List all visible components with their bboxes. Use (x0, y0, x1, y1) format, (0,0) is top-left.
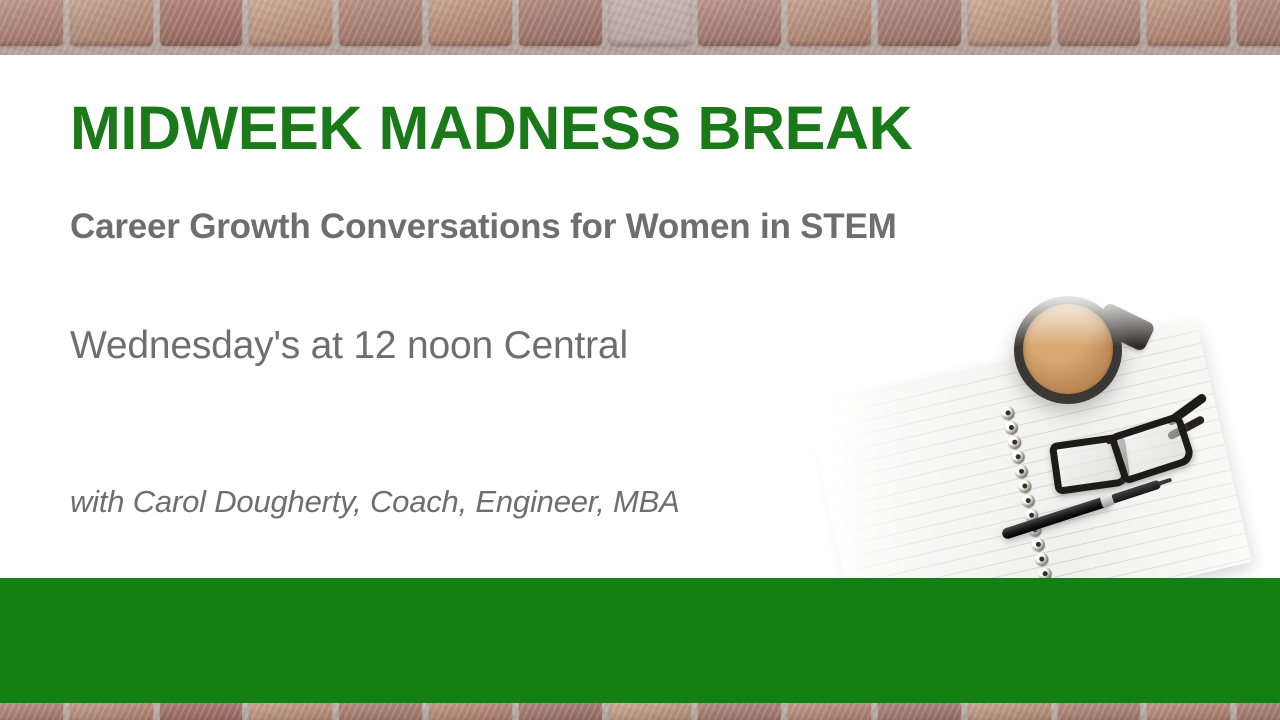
slide-canvas: MIDWEEK MADNESS BREAK Career Growth Conv… (0, 0, 1280, 720)
desk-photo (800, 288, 1280, 580)
brick (0, 0, 63, 46)
brick (160, 0, 243, 46)
spiral-coil (1007, 434, 1023, 450)
spiral-coil (1034, 551, 1050, 567)
brick (878, 703, 961, 720)
pen-tip (1158, 478, 1173, 486)
brick (160, 703, 243, 720)
brick (249, 0, 332, 46)
brick (519, 0, 602, 46)
brick (1058, 0, 1141, 46)
spiral-coil (1017, 478, 1033, 494)
brick (519, 703, 602, 720)
brick (698, 0, 781, 46)
brick (1147, 0, 1230, 46)
spiral-coil (1014, 464, 1030, 480)
brick (698, 703, 781, 720)
page-title: MIDWEEK MADNESS BREAK (70, 93, 912, 163)
brick (249, 703, 332, 720)
brick (609, 703, 692, 720)
brick (878, 0, 961, 46)
brick-band-top (0, 0, 1280, 55)
coffee-surface (1023, 304, 1113, 394)
brick (609, 0, 692, 46)
brick (339, 703, 422, 720)
schedule-text: Wednesday's at 12 noon Central (70, 324, 628, 368)
brick (0, 703, 63, 720)
brick (70, 0, 153, 46)
green-footer-bar (0, 578, 1280, 703)
brick (968, 703, 1051, 720)
brick (788, 703, 871, 720)
brick (1237, 703, 1280, 720)
spiral-coil (1010, 449, 1026, 465)
brick (968, 0, 1051, 46)
brick (788, 0, 871, 46)
brick-band-bottom (0, 703, 1280, 720)
mug-body (1014, 296, 1122, 404)
brick (429, 0, 512, 46)
spiral-coil (1020, 493, 1036, 509)
coffee-mug (1012, 294, 1152, 414)
presenter-byline: with Carol Dougherty, Coach, Engineer, M… (70, 484, 680, 520)
brick (70, 703, 153, 720)
spiral-coil (1004, 420, 1020, 436)
brick (1058, 703, 1141, 720)
brick (1147, 703, 1230, 720)
spiral-coil (1031, 537, 1047, 553)
brick-row (0, 0, 1280, 46)
page-subtitle: Career Growth Conversations for Women in… (70, 207, 897, 247)
brick (429, 703, 512, 720)
brick-row (0, 703, 1280, 720)
brick (1237, 0, 1280, 46)
brick (339, 0, 422, 46)
